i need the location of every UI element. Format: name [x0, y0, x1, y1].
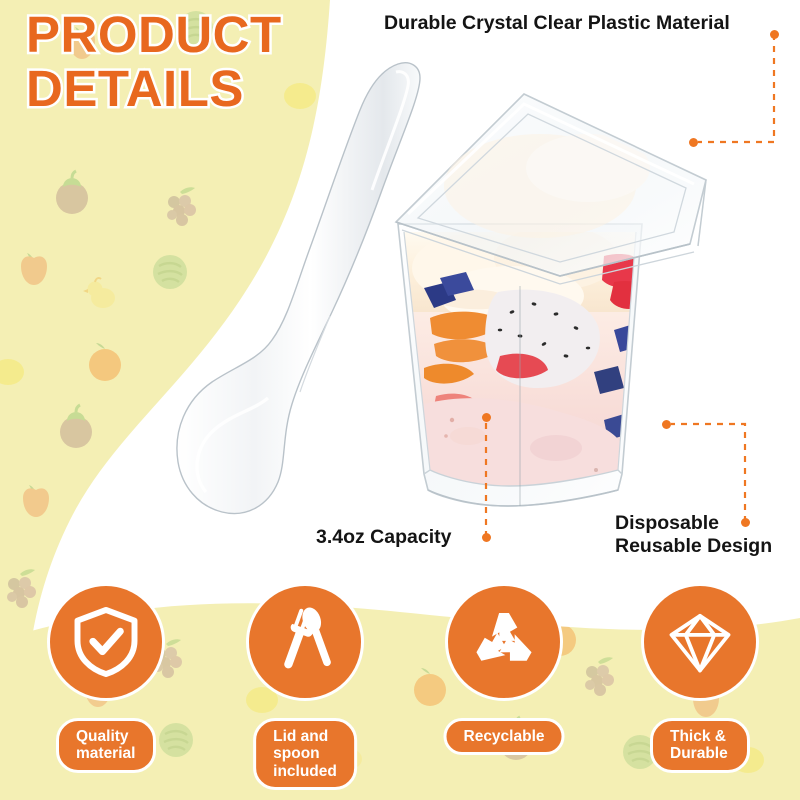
connector-design — [671, 424, 745, 522]
badge-label: Recyclable — [444, 718, 565, 755]
callout-label-material: Durable Crystal Clear Plastic Material — [384, 12, 730, 35]
callout-dot-design-anchor — [662, 420, 671, 429]
product-details-infographic: PRODUCT DETAILS — [0, 0, 800, 800]
badge-label: Quality material — [56, 718, 156, 773]
diamond-icon — [662, 604, 738, 680]
callout-dot-capacity-label — [482, 533, 491, 542]
badge-label: Thick & Durable — [650, 718, 750, 773]
badge-label: Lid and spoon included — [253, 718, 357, 790]
badge-icon-circle — [47, 583, 165, 701]
connector-lid — [698, 34, 774, 142]
feature-badge-row: Quality material — [0, 583, 800, 800]
recycle-icon — [467, 605, 541, 679]
shield-check-icon — [68, 604, 144, 680]
feature-badge-lid-and-spoon[interactable]: Lid and spoon included — [205, 583, 405, 800]
badge-icon-circle — [246, 583, 364, 701]
callout-label-capacity: 3.4oz Capacity — [316, 526, 451, 549]
badge-icon-circle — [445, 583, 563, 701]
callout-label-design: Disposable Reusable Design — [615, 512, 772, 557]
feature-badge-thick-durable[interactable]: Thick & Durable — [600, 583, 800, 800]
fork-spoon-icon — [268, 605, 342, 679]
callout-dot-lid-anchor — [689, 138, 698, 147]
feature-badge-quality-material[interactable]: Quality material — [6, 583, 206, 800]
badge-icon-circle — [641, 583, 759, 701]
callout-dot-lid-label — [770, 30, 779, 39]
callout-dot-capacity-anchor — [482, 413, 491, 422]
feature-badge-recyclable[interactable]: Recyclable — [404, 583, 604, 800]
